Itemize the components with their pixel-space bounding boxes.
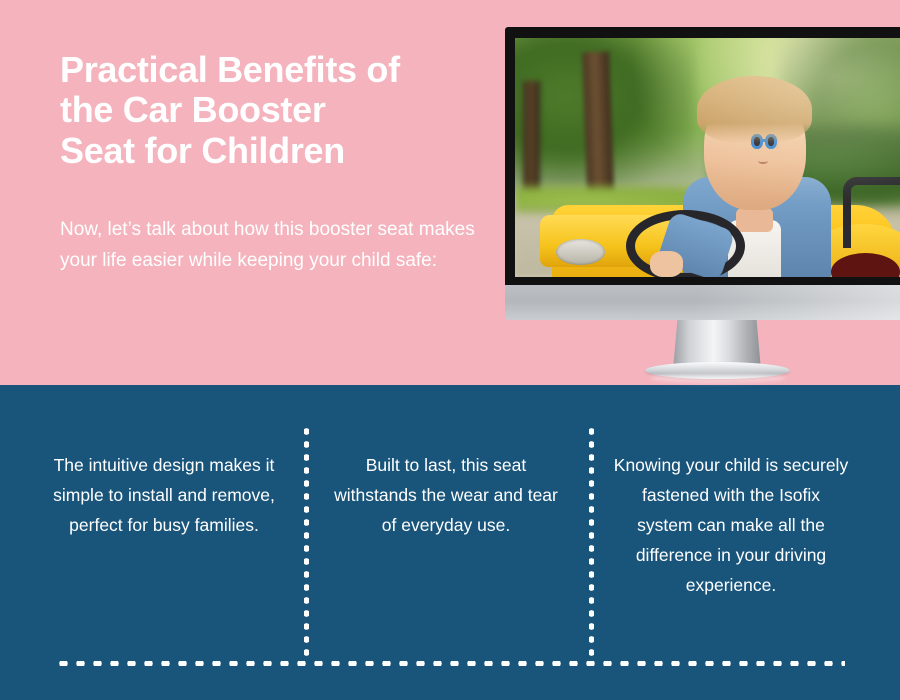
benefit-column-1: The intuitive design makes it simple to … [46, 450, 282, 540]
toy-car-headlight [556, 239, 605, 265]
vertical-dotted-divider-1 [304, 425, 309, 661]
boy-neck [736, 208, 773, 232]
boy-smile [758, 158, 768, 164]
park-photo [515, 38, 900, 277]
page-title: Practical Benefits of the Car Booster Se… [60, 50, 480, 171]
benefit-column-3: Knowing your child is securely fastened … [613, 450, 849, 600]
page-title-line-3: Seat for Children [60, 131, 480, 171]
monitor-stand-shadow [650, 373, 786, 383]
boy-hair [697, 76, 812, 143]
infographic-canvas: Practical Benefits of the Car Booster Se… [0, 0, 900, 700]
benefit-column-2: Built to last, this seat withstands the … [328, 450, 564, 540]
boy-hand [650, 251, 683, 277]
vertical-dotted-divider-2 [589, 425, 594, 661]
page-title-line-1: Practical Benefits of [60, 50, 480, 90]
page-subtitle: Now, let’s talk about how this booster s… [60, 215, 480, 277]
monitor-screen [515, 38, 900, 277]
page-title-line-2: the Car Booster [60, 90, 480, 130]
toy-car-seat-back [843, 177, 900, 249]
horizontal-dotted-divider [55, 661, 845, 666]
monitor-chin-highlight [505, 285, 900, 320]
monitor-mockup [505, 27, 900, 320]
tree-trunk-secondary [523, 81, 539, 201]
